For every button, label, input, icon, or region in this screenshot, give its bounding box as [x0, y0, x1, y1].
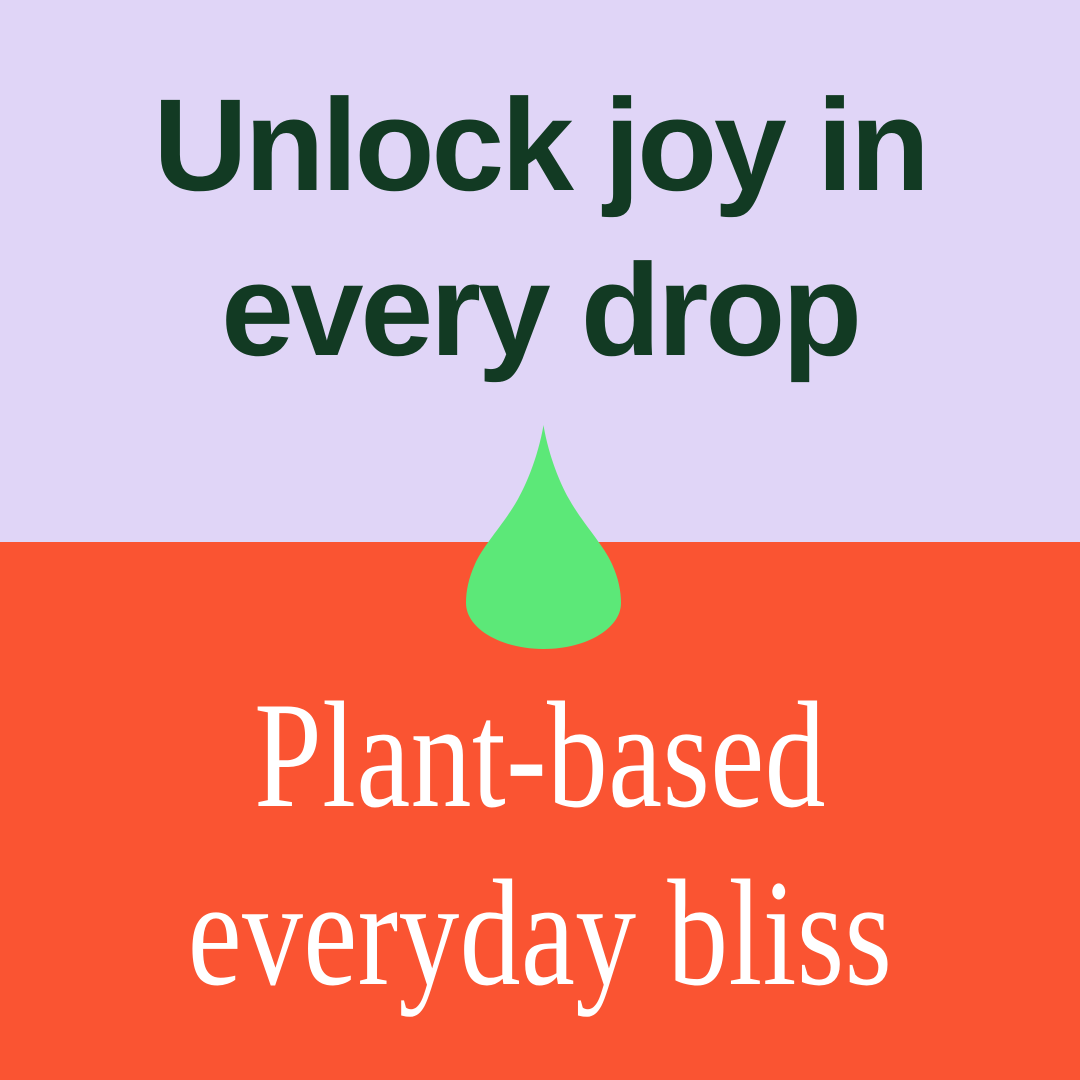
subhead-line-1: Plant-based: [108, 666, 972, 844]
subhead: Plant-based everyday bliss: [108, 666, 972, 1022]
headline-line-1: Unlock joy in: [0, 62, 1080, 227]
poster-canvas: Unlock joy in every drop Plant-based eve…: [0, 0, 1080, 1080]
headline-line-2: every drop: [0, 227, 1080, 392]
headline: Unlock joy in every drop: [0, 62, 1080, 392]
water-droplet-icon: [466, 425, 621, 649]
subhead-line-2: everyday bliss: [108, 844, 972, 1022]
